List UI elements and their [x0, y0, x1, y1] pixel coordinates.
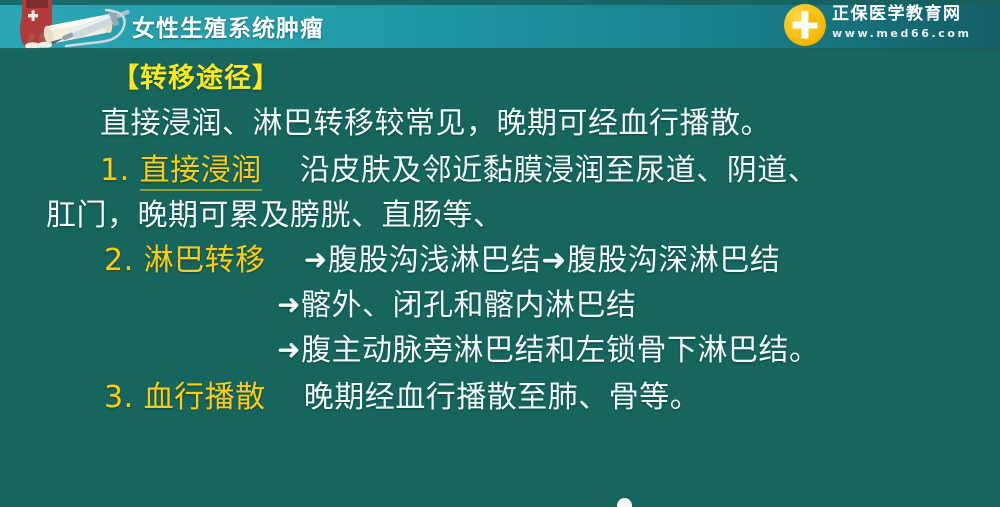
intro-line: 直接浸润、淋巴转移较常见，晚期可经血行播散。 [100, 107, 771, 141]
item-2-cont-1-text: 髂外、闭孔和髂内淋巴结 [301, 288, 637, 323]
slide-root: 女性生殖系统肿瘤 正保医学教育网 www.med66.com 【转移途径】 直接… [0, 0, 1000, 507]
item-2-key: 淋巴转移 [144, 243, 266, 278]
item-2-cont-2-text: 腹主动脉旁淋巴结和左锁骨下淋巴结。 [301, 333, 820, 368]
item-3-text: 晚期经血行播散至肺、骨等。 [304, 380, 701, 415]
item-1-key: 直接浸润 [140, 153, 262, 191]
site-logo[interactable]: 正保医学教育网 www.med66.com [784, 3, 994, 49]
arrow-right-icon: ➜ [277, 333, 301, 367]
list-item-1-continued: 肛门，晚期可累及膀胱、直肠等、 [46, 199, 504, 233]
page-title: 女性生殖系统肿瘤 [132, 9, 324, 43]
doctor-with-syringe-illustration [0, 0, 135, 52]
item-3-key: 血行播散 [144, 380, 266, 415]
item-2-text: 腹股沟浅淋巴结➜腹股沟深淋巴结 [328, 243, 781, 278]
brand-url: www.med66.com [832, 26, 992, 41]
item-3-number: 3. [104, 380, 134, 415]
brand-name: 正保医学教育网 [832, 4, 992, 24]
slide-content: 【转移途径】 直接浸润、淋巴转移较常见，晚期可经血行播散。 1. 直接浸润 沿皮… [0, 52, 1000, 507]
list-item-2-continued-2: ➜腹主动脉旁淋巴结和左锁骨下淋巴结。 [277, 334, 819, 368]
arrow-right-icon: ➜ [304, 243, 328, 277]
list-item-3: 3. 血行播散 晚期经血行播散至肺、骨等。 [104, 381, 700, 415]
medical-cross-circle-logo [784, 4, 826, 46]
progress-handle-dot[interactable] [617, 498, 632, 507]
section-heading: 【转移途径】 [112, 62, 280, 96]
item-1-number: 1. [100, 153, 130, 188]
item-2-number: 2. [104, 243, 134, 278]
item-1-text: 沿皮肤及邻近黏膜浸润至尿道、阴道、 [300, 153, 819, 188]
item-1-cont-text: 肛门，晚期可累及膀胱、直肠等、 [46, 198, 504, 233]
arrow-right-icon: ➜ [277, 288, 301, 322]
list-item-2-continued-1: ➜髂外、闭孔和髂内淋巴结 [277, 289, 636, 323]
logo-text-block: 正保医学教育网 www.med66.com [832, 4, 992, 41]
slide-header: 女性生殖系统肿瘤 正保医学教育网 www.med66.com [0, 0, 1000, 52]
list-item-1: 1. 直接浸润 沿皮肤及邻近黏膜浸润至尿道、阴道、 [100, 154, 818, 188]
list-item-2: 2. 淋巴转移 ➜腹股沟浅淋巴结➜腹股沟深淋巴结 [104, 244, 780, 278]
intro-text: 直接浸润、淋巴转移较常见，晚期可经血行播散。 [100, 106, 771, 141]
